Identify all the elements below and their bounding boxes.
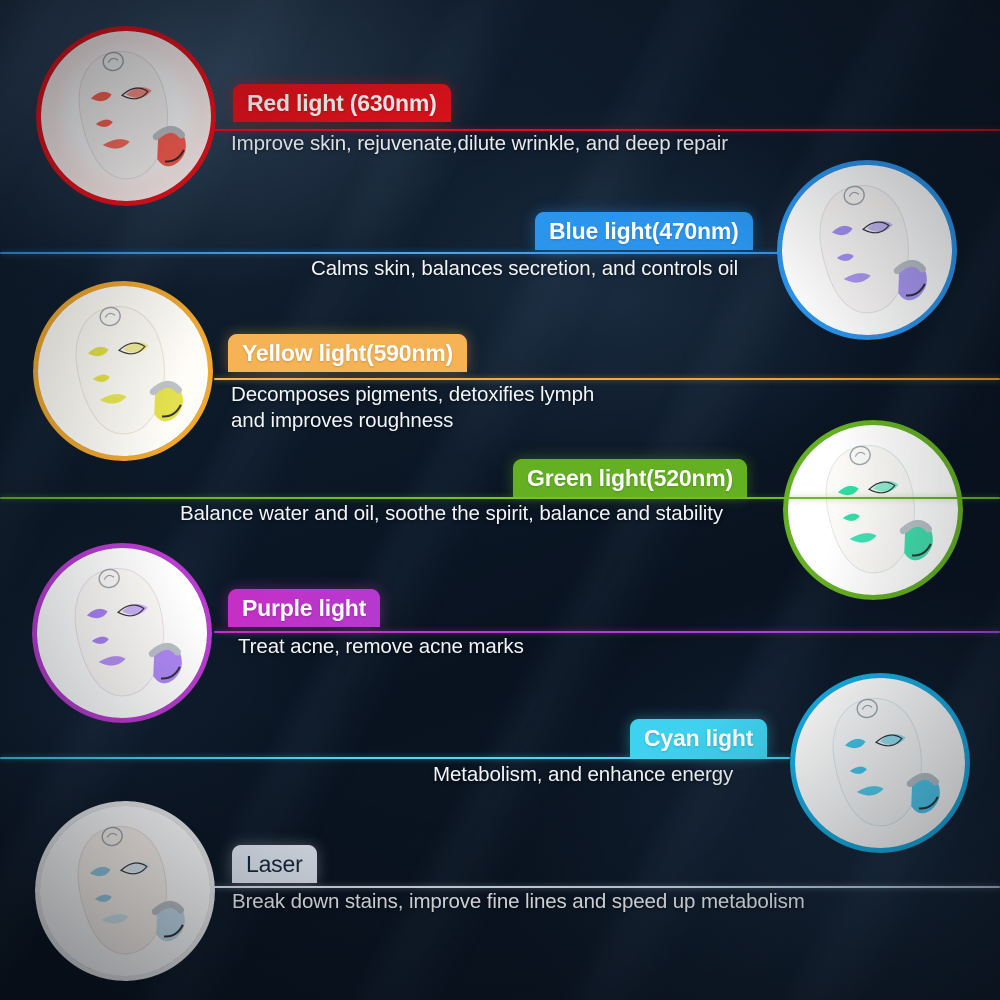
divider-purple [214, 631, 1000, 633]
chip-cyan[interactable]: Cyan light [630, 719, 767, 757]
circle-ring-purple [32, 543, 212, 723]
circle-ring-yellow [33, 281, 213, 461]
desc-yellow: Decomposes pigments, detoxifies lymph an… [231, 382, 594, 434]
desc-purple: Treat acne, remove acne marks [238, 634, 524, 660]
chip-blue[interactable]: Blue light(470nm) [535, 212, 753, 250]
led-mask-cyan-photo [790, 673, 970, 853]
desc-green: Balance water and oil, soothe the spirit… [180, 501, 723, 527]
chip-red[interactable]: Red light (630nm) [233, 84, 451, 122]
divider-laser [214, 886, 1000, 888]
divider-cyan [0, 757, 790, 759]
led-mask-green-photo [783, 420, 963, 600]
divider-blue [0, 252, 778, 254]
circle-ring-blue [777, 160, 957, 340]
divider-yellow [214, 378, 1000, 380]
chip-laser[interactable]: Laser [232, 845, 317, 883]
chip-purple[interactable]: Purple light [228, 589, 380, 627]
desc-laser: Break down stains, improve fine lines an… [232, 889, 805, 915]
desc-red: Improve skin, rejuvenate,dilute wrinkle,… [231, 131, 728, 157]
led-mask-laser-photo [35, 801, 215, 981]
divider-green [0, 497, 1000, 499]
chip-green[interactable]: Green light(520nm) [513, 459, 747, 497]
infographic-stage: Red light (630nm) Improve skin, rejuvena… [0, 0, 1000, 1000]
desc-cyan: Metabolism, and enhance energy [433, 762, 733, 788]
led-mask-yellow-photo [33, 281, 213, 461]
circle-ring-laser [35, 801, 215, 981]
led-mask-red-photo [36, 26, 216, 206]
led-mask-purple-photo [32, 543, 212, 723]
circle-ring-red [36, 26, 216, 206]
circle-ring-green [783, 420, 963, 600]
chip-yellow[interactable]: Yellow light(590nm) [228, 334, 467, 372]
led-mask-blue-photo [777, 160, 957, 340]
circle-ring-cyan [790, 673, 970, 853]
desc-blue: Calms skin, balances secretion, and cont… [311, 256, 738, 282]
